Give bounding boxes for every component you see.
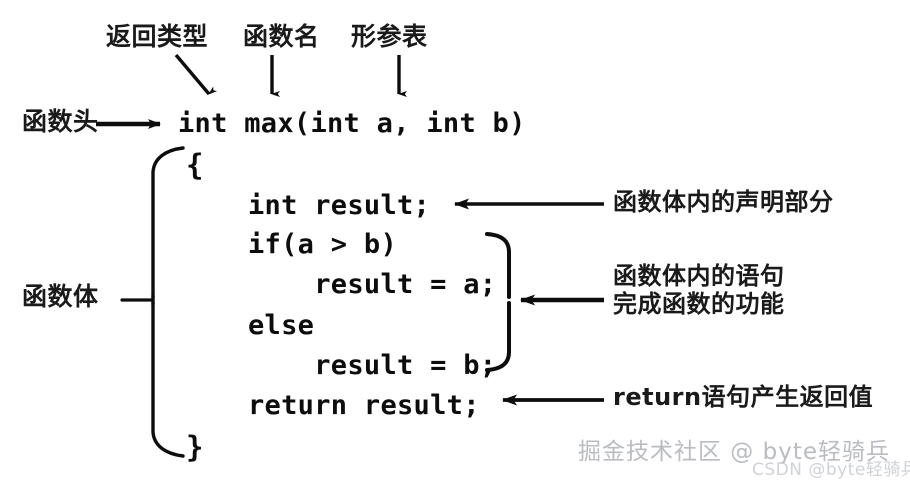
arrow-return-type-icon [176, 55, 209, 94]
code-line-return: return result; [248, 390, 480, 421]
code-line-if-condition: if(a > b) [248, 229, 397, 260]
annotation-declaration-part: 函数体内的声明部分 [613, 188, 834, 216]
label-function-header: 函数头 [22, 107, 99, 137]
diagram-canvas: 返回类型 函数名 形参表 函数头 函数体 int max(int a, int … [0, 0, 910, 478]
watermark-secondary: CSDN @byte轻骑兵 [752, 455, 910, 480]
code-open-brace: { [186, 148, 203, 182]
label-return-type: 返回类型 [106, 22, 208, 52]
code-close-brace: } [186, 430, 203, 464]
label-parameter-list: 形参表 [351, 22, 428, 52]
annotation-return-value: return语句产生返回值 [613, 383, 873, 411]
code-line-assign-b: result = b; [248, 350, 496, 381]
label-function-body: 函数体 [22, 282, 99, 312]
code-line-else: else [248, 310, 314, 341]
annotation-statements-part: 函数体内的语句 完成函数的功能 [613, 262, 785, 319]
brace-function-body-icon [122, 148, 183, 456]
annotation-statements-line-2: 完成函数的功能 [613, 290, 785, 318]
code-line-assign-a: result = a; [248, 269, 496, 300]
code-line-signature: int max(int a, int b) [178, 108, 526, 139]
label-function-name: 函数名 [243, 22, 320, 52]
code-line-declaration: int result; [248, 190, 430, 221]
annotation-statements-line-1: 函数体内的语句 [613, 262, 785, 290]
